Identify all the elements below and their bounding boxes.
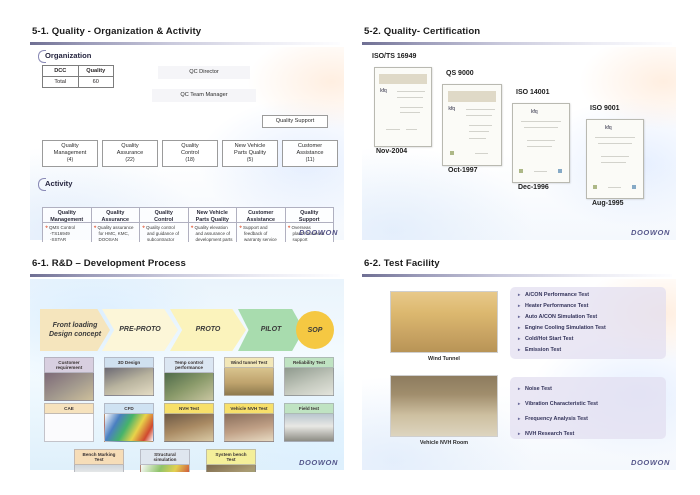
- facility-test-item: Heater Performance Test: [518, 304, 658, 310]
- certificate-date: Dec-1996: [518, 184, 549, 191]
- process-tile-label: System benchTest: [206, 449, 256, 465]
- activity-header-line1: Quality: [155, 210, 173, 216]
- process-tile-label: Vehicle NVH Test: [224, 403, 274, 414]
- process-tile-photo: [104, 414, 154, 442]
- certificate-image: kfq: [586, 119, 644, 199]
- activity-column-header: Quality Control: [140, 208, 188, 223]
- org-department-line1: Quality: [181, 143, 198, 150]
- section-heading-activity: Activity: [38, 179, 72, 188]
- activity-header-line1: Quality: [106, 210, 124, 216]
- activity-header-line1: Quality: [58, 210, 76, 216]
- process-tile-photo: [44, 373, 94, 401]
- process-tile-photo: [284, 368, 334, 396]
- process-tile-photo: [224, 414, 274, 442]
- process-tile-photo: [164, 373, 214, 401]
- company-logo-text: DOOWON: [631, 228, 670, 237]
- slide-title: 5-1. Quality - Organization & Activity: [32, 26, 201, 37]
- org-department-line1: Quality: [61, 143, 78, 150]
- activity-column: Quality Control Quality control and guid…: [139, 208, 188, 242]
- org-department-count: (18): [185, 157, 194, 164]
- org-department-line2: Assistance: [296, 150, 323, 157]
- slide-body: Organization DCC Quality Total 60 QC Dir…: [30, 47, 344, 240]
- facility-photo-vehicle-nvh-room: [390, 375, 498, 437]
- process-tile-photo: [284, 414, 334, 442]
- company-logo: DOOWON: [299, 458, 338, 467]
- process-tile-label: 3D Design: [104, 357, 154, 368]
- process-tile-nvh-test: NVH Test: [164, 403, 214, 442]
- process-tile-photo: [164, 414, 214, 442]
- activity-header-line1: Customer: [248, 210, 273, 216]
- certificate-name: ISO 14001: [516, 89, 549, 96]
- process-tile-label: Reliability Test: [284, 357, 334, 368]
- process-tile-vehicle-nvh-test: Vehicle NVH Test: [224, 403, 274, 442]
- process-tile-photo: [104, 368, 154, 396]
- facility-test-list-vehicle-nvh-room: Noise Test Vibration Characteristic Test…: [510, 377, 666, 439]
- facility-test-item: Emission Test: [518, 348, 658, 354]
- org-department-line2: Control: [181, 150, 199, 157]
- table-cell: Quality: [78, 66, 114, 76]
- process-tile-wind-tunnel-test: Wind tunnel Test: [224, 357, 274, 396]
- title-rule: [362, 274, 672, 277]
- company-logo-text: DOOWON: [631, 458, 670, 467]
- certificate-name: ISO 9001: [590, 105, 620, 112]
- certificate-image: kfq: [442, 84, 502, 166]
- headcount-table: DCC Quality Total 60: [42, 65, 114, 88]
- slide-title: 6-2. Test Facility: [364, 258, 440, 269]
- org-department-line2: Parts Quality: [234, 150, 266, 157]
- company-logo-text: DOOWON: [299, 458, 338, 467]
- process-tile-photo: [206, 465, 256, 472]
- activity-column: Quality Management QMS Control -TS16949 …: [43, 208, 91, 242]
- certificate-image: kfq: [512, 103, 570, 183]
- process-tile-label: Wind tunnel Test: [224, 357, 274, 368]
- process-tile-label: NVH Test: [164, 403, 214, 414]
- process-stage-label: SOP: [308, 327, 323, 334]
- process-tile-photo: [224, 368, 274, 396]
- process-tile-system-bench-test: System benchTest: [206, 449, 256, 472]
- facility-test-item: Vibration Characteristic Test: [518, 402, 658, 408]
- slide-body: ISO/TS 16949 kfq Nov-2004 QS 9000: [362, 47, 676, 240]
- activity-column: New Vehicle Parts Quality Quality elevat…: [188, 208, 237, 242]
- process-tile-customer-requirement: Customerrequirement: [44, 357, 94, 401]
- org-department-count: (5): [247, 157, 253, 164]
- org-department-line2: Assurance: [117, 150, 143, 157]
- facility-caption-vehicle-nvh-room: Vehicle NVH Room: [390, 440, 498, 446]
- org-department-count: (22): [125, 157, 134, 164]
- org-department: Quality Assurance (22): [102, 140, 158, 167]
- process-tile-cfd: CFD: [104, 403, 154, 442]
- process-tile-cae: CAE: [44, 403, 94, 442]
- activity-header-line2: Control: [154, 217, 173, 223]
- slide-body: Wind Tunnel A/CON Performance Test Heate…: [362, 279, 676, 470]
- company-logo-text: DOOWON: [299, 228, 338, 237]
- facility-test-item: Engine Cooling Simulation Test: [518, 326, 658, 332]
- process-tile-label: Field test: [284, 403, 334, 414]
- activity-column: Quality Assurance Quality assurance for …: [91, 208, 140, 242]
- activity-header-line2: Parts Quality: [196, 217, 229, 223]
- facility-test-list-wind-tunnel: A/CON Performance Test Heater Performanc…: [510, 287, 666, 359]
- company-logo: DOOWON: [631, 458, 670, 467]
- process-flow: Front loading Design concept PRE-PROTO P…: [40, 309, 334, 351]
- slide-quality-certification: 5-2. Quality- Certification ISO/TS 16949…: [360, 24, 678, 242]
- activity-column-header: Quality Assurance: [92, 208, 140, 223]
- process-tile-label: Customerrequirement: [44, 357, 94, 373]
- process-stage-label: PROTO: [196, 325, 221, 334]
- org-node-qc-director: QC Director: [158, 66, 250, 79]
- table-cell: 60: [78, 77, 114, 87]
- facility-test-item: NVH Research Test: [518, 432, 658, 438]
- process-stage-label: PILOT: [261, 325, 282, 334]
- org-department-line1: New Vehicle: [235, 143, 266, 150]
- process-tile-label: CFD: [104, 403, 154, 414]
- activity-item: development parts: [191, 237, 235, 242]
- activity-header-line1: Quality: [300, 210, 318, 216]
- process-tile-photo: [44, 414, 94, 442]
- company-logo: DOOWON: [299, 228, 338, 237]
- process-tile-label: Structuralsimulation: [140, 449, 190, 465]
- process-stage-proto: PROTO: [170, 309, 246, 351]
- process-stage-sop: SOP: [296, 311, 334, 349]
- org-department-line1: Customer: [298, 143, 322, 150]
- process-tile-label: Bench MarkingTest: [74, 449, 124, 465]
- certificate-date: Nov-2004: [376, 148, 407, 155]
- title-rule: [362, 42, 672, 45]
- activity-item: -SSTAR: [45, 237, 89, 242]
- facility-caption-wind-tunnel: Wind Tunnel: [390, 356, 498, 362]
- activity-header-line2: Support: [299, 217, 320, 223]
- company-logo: DOOWON: [631, 228, 670, 237]
- process-tile-photo: [74, 465, 124, 472]
- process-tile-3d-design: 3D Design: [104, 357, 154, 396]
- activity-item: subcontractor: [142, 237, 186, 242]
- certificate-name: ISO/TS 16949: [372, 53, 416, 60]
- table-cell: Total: [43, 77, 78, 87]
- process-stage-pre-proto: PRE-PROTO: [102, 309, 178, 351]
- slide-test-facility: 6-2. Test Facility Wind Tunnel A/CON Per…: [360, 256, 678, 472]
- activity-column-header: Quality Management: [43, 208, 91, 223]
- table-row: Total 60: [43, 76, 113, 87]
- org-department-line1: Quality: [121, 143, 138, 150]
- document-page: 5-1. Quality - Organization & Activity O…: [0, 0, 700, 495]
- facility-test-item: Frequency Analysis Test: [518, 417, 658, 423]
- process-stage-line1: Front loading: [53, 322, 98, 329]
- process-tile-bench-marking-test: Bench MarkingTest: [74, 449, 124, 472]
- certificate-image: kfq: [374, 67, 432, 147]
- table-cell: DCC: [43, 66, 78, 76]
- certificate-name: QS 9000: [446, 70, 474, 77]
- activity-column-header: New Vehicle Parts Quality: [189, 208, 237, 223]
- slide-title: 6-1. R&D – Development Process: [32, 258, 186, 269]
- table-row: DCC Quality: [43, 66, 113, 76]
- slide-quality-organization-activity: 5-1. Quality - Organization & Activity O…: [28, 24, 346, 242]
- process-tile-photo: [140, 465, 190, 472]
- org-department-count: (4): [67, 157, 73, 164]
- org-department: New Vehicle Parts Quality (5): [222, 140, 278, 167]
- certificate-date: Aug-1995: [592, 200, 624, 207]
- slide-rd-development-process: 6-1. R&D – Development Process Front loa…: [28, 256, 346, 472]
- process-tile-label: CAE: [44, 403, 94, 414]
- process-stage-label: PRE-PROTO: [119, 325, 161, 334]
- process-tile-field-test: Field test: [284, 403, 334, 442]
- activity-header-line2: Assistance: [247, 217, 275, 223]
- facility-test-item: A/CON Performance Test: [518, 293, 658, 299]
- activity-column-header: Quality Support: [286, 208, 334, 223]
- org-department: Quality Control (18): [162, 140, 218, 167]
- org-department: Customer Assistance (11): [282, 140, 338, 167]
- activity-header-line2: Assurance: [101, 217, 129, 223]
- process-tile-structural-simulation: Structuralsimulation: [140, 449, 190, 472]
- activity-header-line1: New Vehicle: [197, 210, 228, 216]
- org-department: Quality Management (4): [42, 140, 98, 167]
- title-rule: [30, 274, 340, 277]
- process-stage-pilot: PILOT: [238, 309, 304, 351]
- process-tile-temp-control-performance: Temp controlperformance: [164, 357, 214, 401]
- org-department-count: (11): [306, 157, 315, 164]
- facility-test-item: Auto A/CON Simulation Test: [518, 315, 658, 321]
- facility-test-item: Cold/Hot Start Test: [518, 337, 658, 343]
- activity-column: Customer Assistance Support and feedback…: [236, 208, 285, 242]
- activity-table: Quality Management QMS Control -TS16949 …: [42, 207, 334, 242]
- title-rule: [30, 42, 340, 45]
- process-stage-front-loading: Front loading Design concept: [40, 309, 110, 351]
- activity-item: warranty service: [239, 237, 283, 242]
- org-node-qc-team-manager: QC Team Manager: [152, 89, 256, 102]
- process-tile-label: Temp controlperformance: [164, 357, 214, 373]
- slide-title: 5-2. Quality- Certification: [364, 26, 480, 37]
- facility-test-item: Noise Test: [518, 387, 658, 393]
- activity-column-header: Customer Assistance: [237, 208, 285, 223]
- activity-header-line2: Management: [50, 217, 83, 223]
- org-department-line2: Management: [54, 150, 87, 157]
- activity-item: support: [288, 237, 332, 242]
- section-heading-organization: Organization: [38, 51, 91, 60]
- certificate-date: Oct-1997: [448, 167, 478, 174]
- org-node-quality-support: Quality Support: [262, 115, 328, 128]
- facility-photo-wind-tunnel: [390, 291, 498, 353]
- process-stage-line2: Design concept: [49, 331, 101, 338]
- slide-body: Front loading Design concept PRE-PROTO P…: [30, 279, 344, 470]
- activity-item: DOOSAN: [94, 237, 138, 242]
- process-tile-reliability-test: Reliability Test: [284, 357, 334, 396]
